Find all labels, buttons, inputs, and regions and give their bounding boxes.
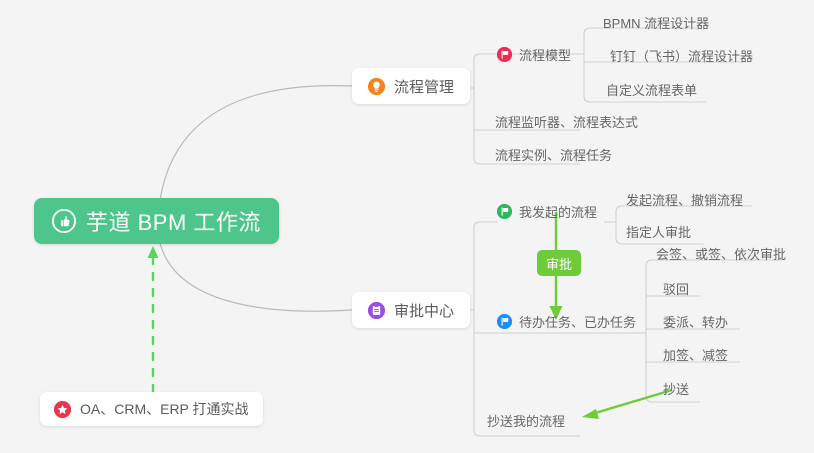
node-custom-process-form[interactable]: 自定义流程表单 <box>600 78 703 102</box>
root-node[interactable]: 芋道 BPM 工作流 <box>34 198 279 244</box>
node-cc[interactable]: 抄送 <box>657 377 695 401</box>
node-label-todo-done-tasks: 待办任务、已办任务 <box>519 312 636 331</box>
branch-label-approval-center: 审批中心 <box>394 300 454 321</box>
node-process-model[interactable]: 流程模型 <box>491 43 577 67</box>
mindmap-canvas: 芋道 BPM 工作流 流程管理 流程模型 BPMN 流程设计器 钉钉（飞书）流 <box>0 0 814 453</box>
node-label-delegate-transfer: 委派、转办 <box>663 312 728 331</box>
lightbulb-icon <box>368 78 385 95</box>
branch-node-approval-center[interactable]: 审批中心 <box>352 292 470 328</box>
node-reject[interactable]: 驳回 <box>657 277 695 301</box>
clipboard-icon <box>368 302 385 319</box>
node-label-countersign: 会签、或签、依次审批 <box>656 244 786 263</box>
node-delegate-transfer[interactable]: 委派、转办 <box>657 310 734 334</box>
node-assignee-approval[interactable]: 指定人审批 <box>620 220 697 244</box>
node-label-bpmn-designer: BPMN 流程设计器 <box>603 13 709 32</box>
node-label-cc: 抄送 <box>663 379 689 398</box>
node-dingtalk-feishu-designer[interactable]: 钉钉（飞书）流程设计器 <box>604 44 759 68</box>
root-label: 芋道 BPM 工作流 <box>86 205 261 237</box>
branch-label-process-management: 流程管理 <box>394 76 454 97</box>
node-my-initiated[interactable]: 我发起的流程 <box>491 200 603 224</box>
annotation-badge-approval[interactable]: 审批 <box>537 250 581 276</box>
node-bpmn-designer[interactable]: BPMN 流程设计器 <box>597 11 715 35</box>
branch-node-process-management[interactable]: 流程管理 <box>352 68 470 104</box>
node-start-cancel[interactable]: 发起流程、撤销流程 <box>620 188 749 212</box>
floating-node-label: OA、CRM、ERP 打通实战 <box>80 399 249 419</box>
annotation-badge-label: 审批 <box>546 254 572 273</box>
node-label-my-initiated: 我发起的流程 <box>519 202 597 221</box>
node-instance-task[interactable]: 流程实例、流程任务 <box>489 143 618 167</box>
flag-icon <box>497 314 512 329</box>
node-label-start-cancel: 发起流程、撤销流程 <box>626 190 743 209</box>
flag-icon <box>497 204 512 219</box>
floating-node-integration-practice[interactable]: OA、CRM、ERP 打通实战 <box>40 392 263 426</box>
node-label-process-model: 流程模型 <box>519 45 571 64</box>
star-icon <box>54 401 71 418</box>
node-label-dingtalk-feishu-designer: 钉钉（飞书）流程设计器 <box>610 46 753 65</box>
flag-icon <box>497 47 512 62</box>
node-todo-done-tasks[interactable]: 待办任务、已办任务 <box>491 310 642 334</box>
node-label-cc-to-me: 抄送我的流程 <box>487 411 565 430</box>
node-label-listener-expression: 流程监听器、流程表达式 <box>495 112 638 131</box>
node-label-add-remove-sign: 加签、减签 <box>663 345 728 364</box>
node-listener-expression[interactable]: 流程监听器、流程表达式 <box>489 110 644 134</box>
thumbs-up-icon <box>52 209 76 233</box>
node-label-assignee-approval: 指定人审批 <box>626 222 691 241</box>
node-add-remove-sign[interactable]: 加签、减签 <box>657 343 734 367</box>
node-cc-to-me[interactable]: 抄送我的流程 <box>481 409 571 433</box>
node-label-instance-task: 流程实例、流程任务 <box>495 145 612 164</box>
node-countersign[interactable]: 会签、或签、依次审批 <box>650 242 792 266</box>
node-label-custom-process-form: 自定义流程表单 <box>606 80 697 99</box>
node-label-reject: 驳回 <box>663 279 689 298</box>
